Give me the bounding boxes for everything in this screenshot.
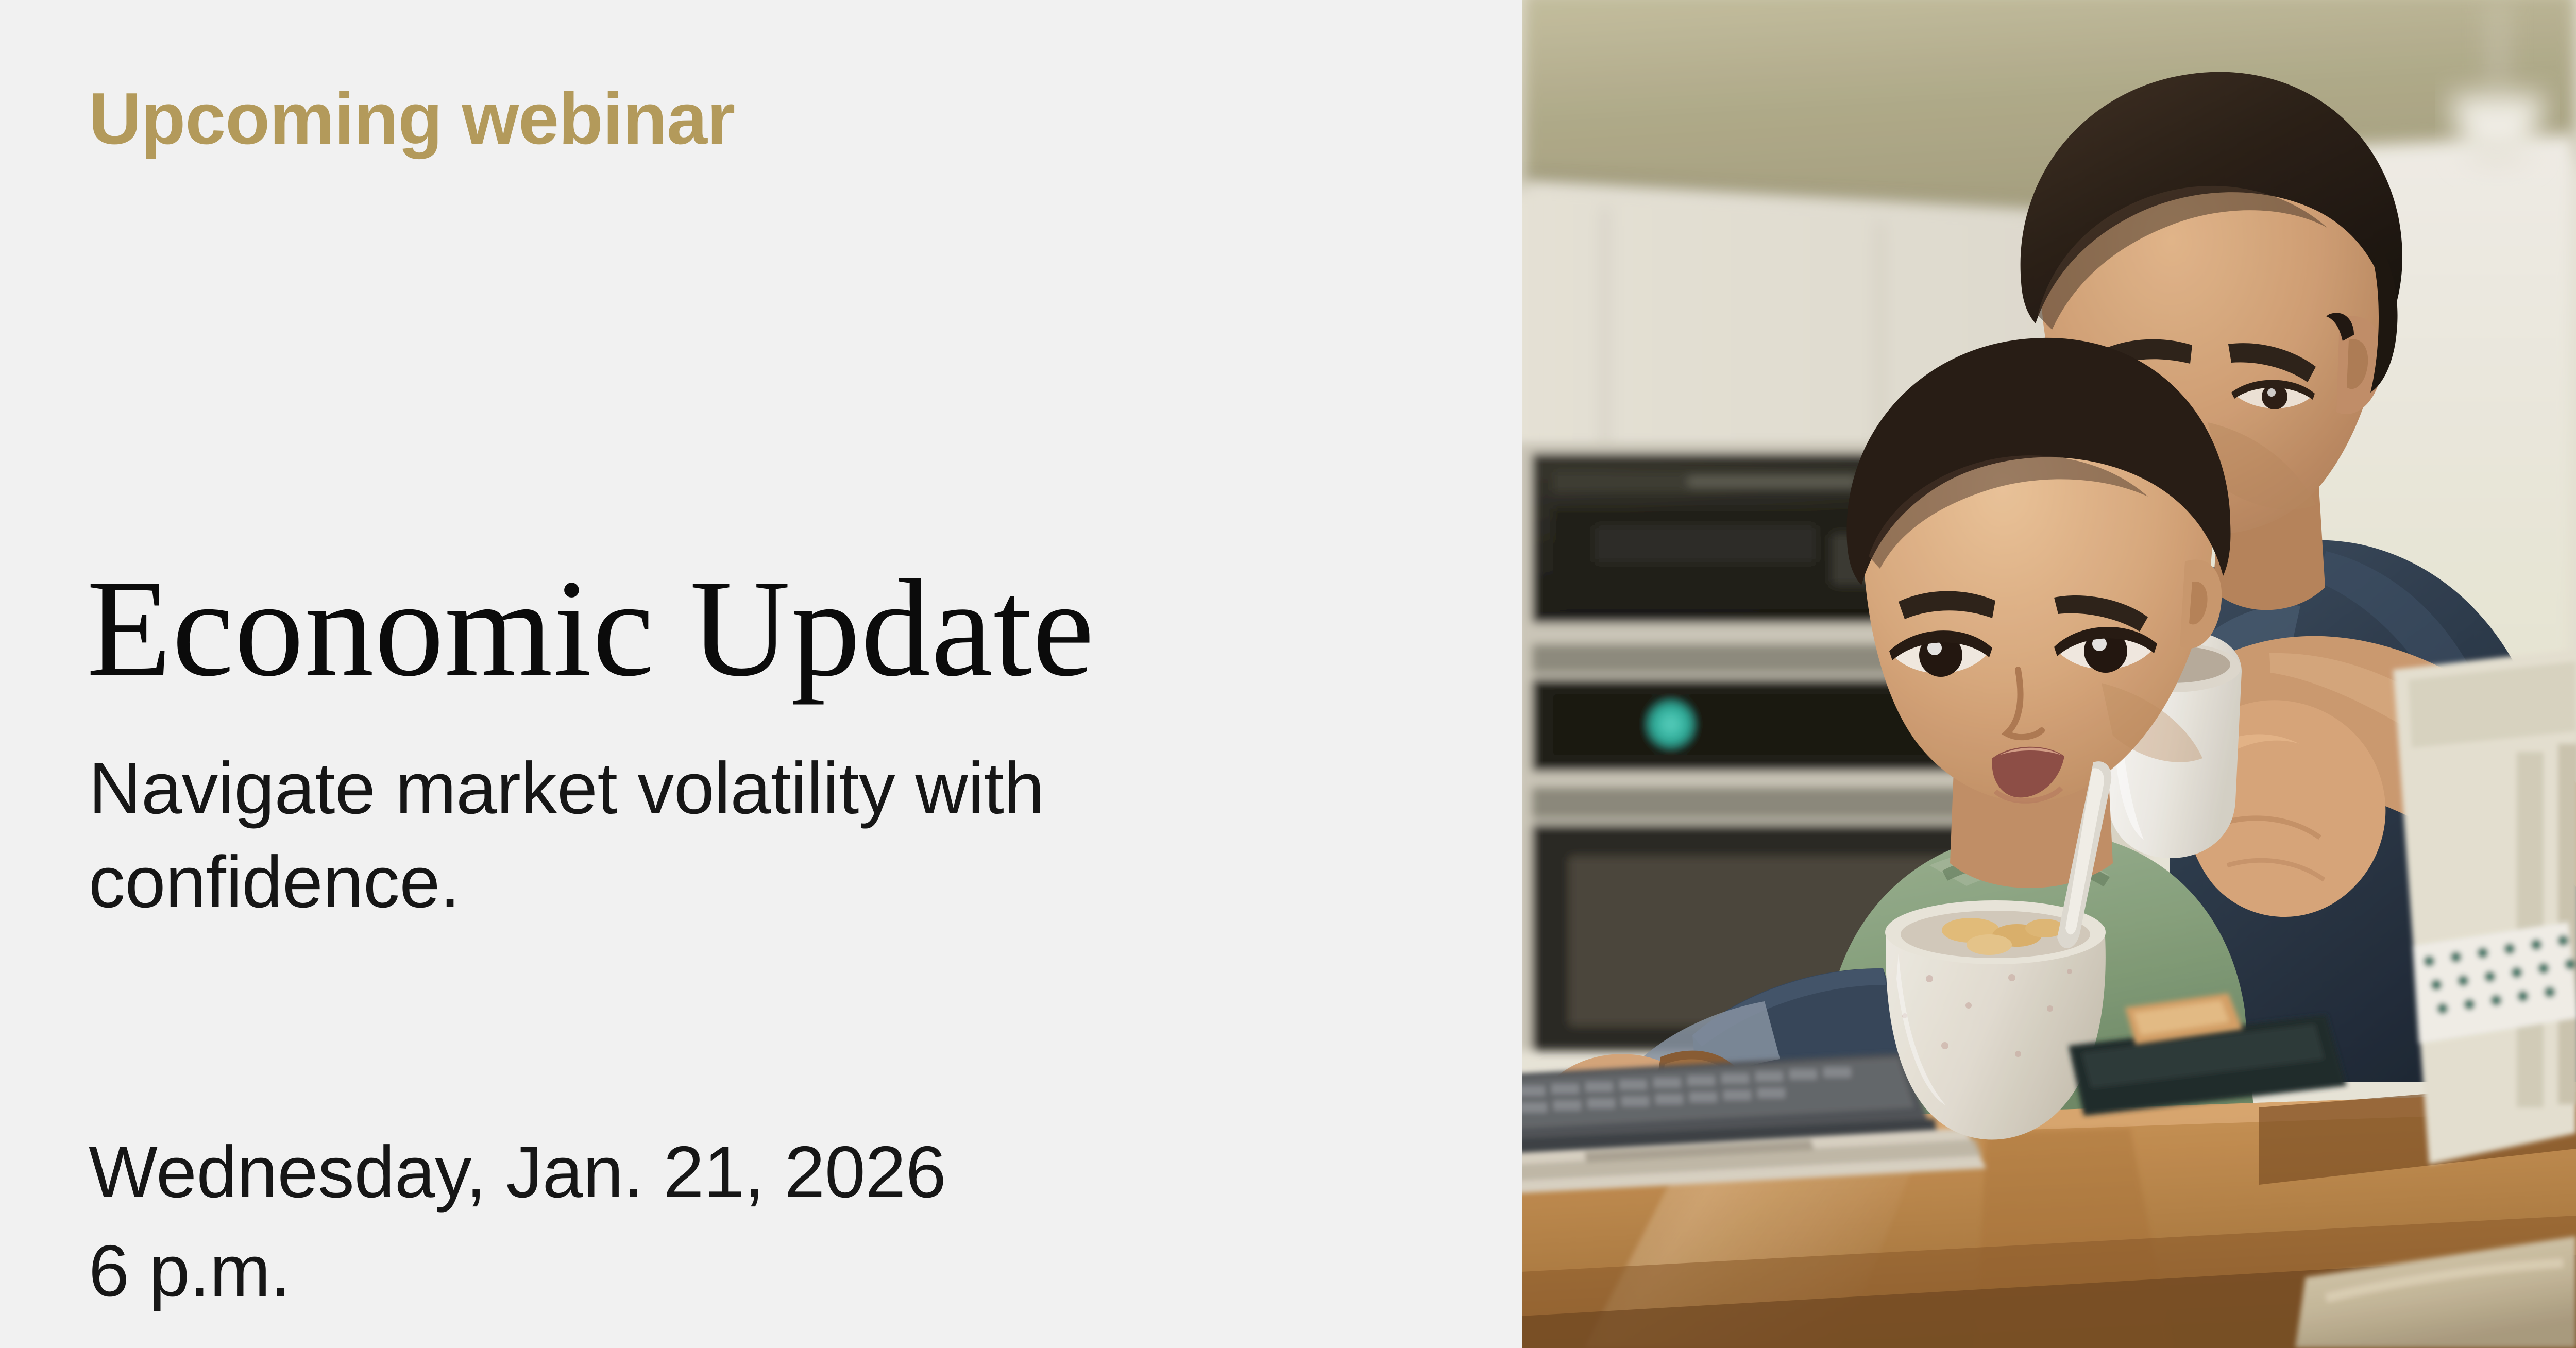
event-date: Wednesday, Jan. 21, 2026 [89,1123,1274,1222]
hero-photo [1522,0,2576,1348]
event-time: 6 p.m. [89,1222,1274,1321]
event-details: Wednesday, Jan. 21, 2026 6 p.m. [89,1123,1274,1320]
kitchen-scene-illustration [1522,0,2576,1348]
eyebrow-label: Upcoming webinar [89,82,735,156]
promo-text-panel: Upcoming webinar Economic Update Navigat… [0,0,1522,1348]
page-title: Economic Update [87,559,1095,698]
webinar-promo-banner: Upcoming webinar Economic Update Navigat… [0,0,2576,1348]
subheadline: Navigate market volatility with confiden… [89,742,1171,929]
